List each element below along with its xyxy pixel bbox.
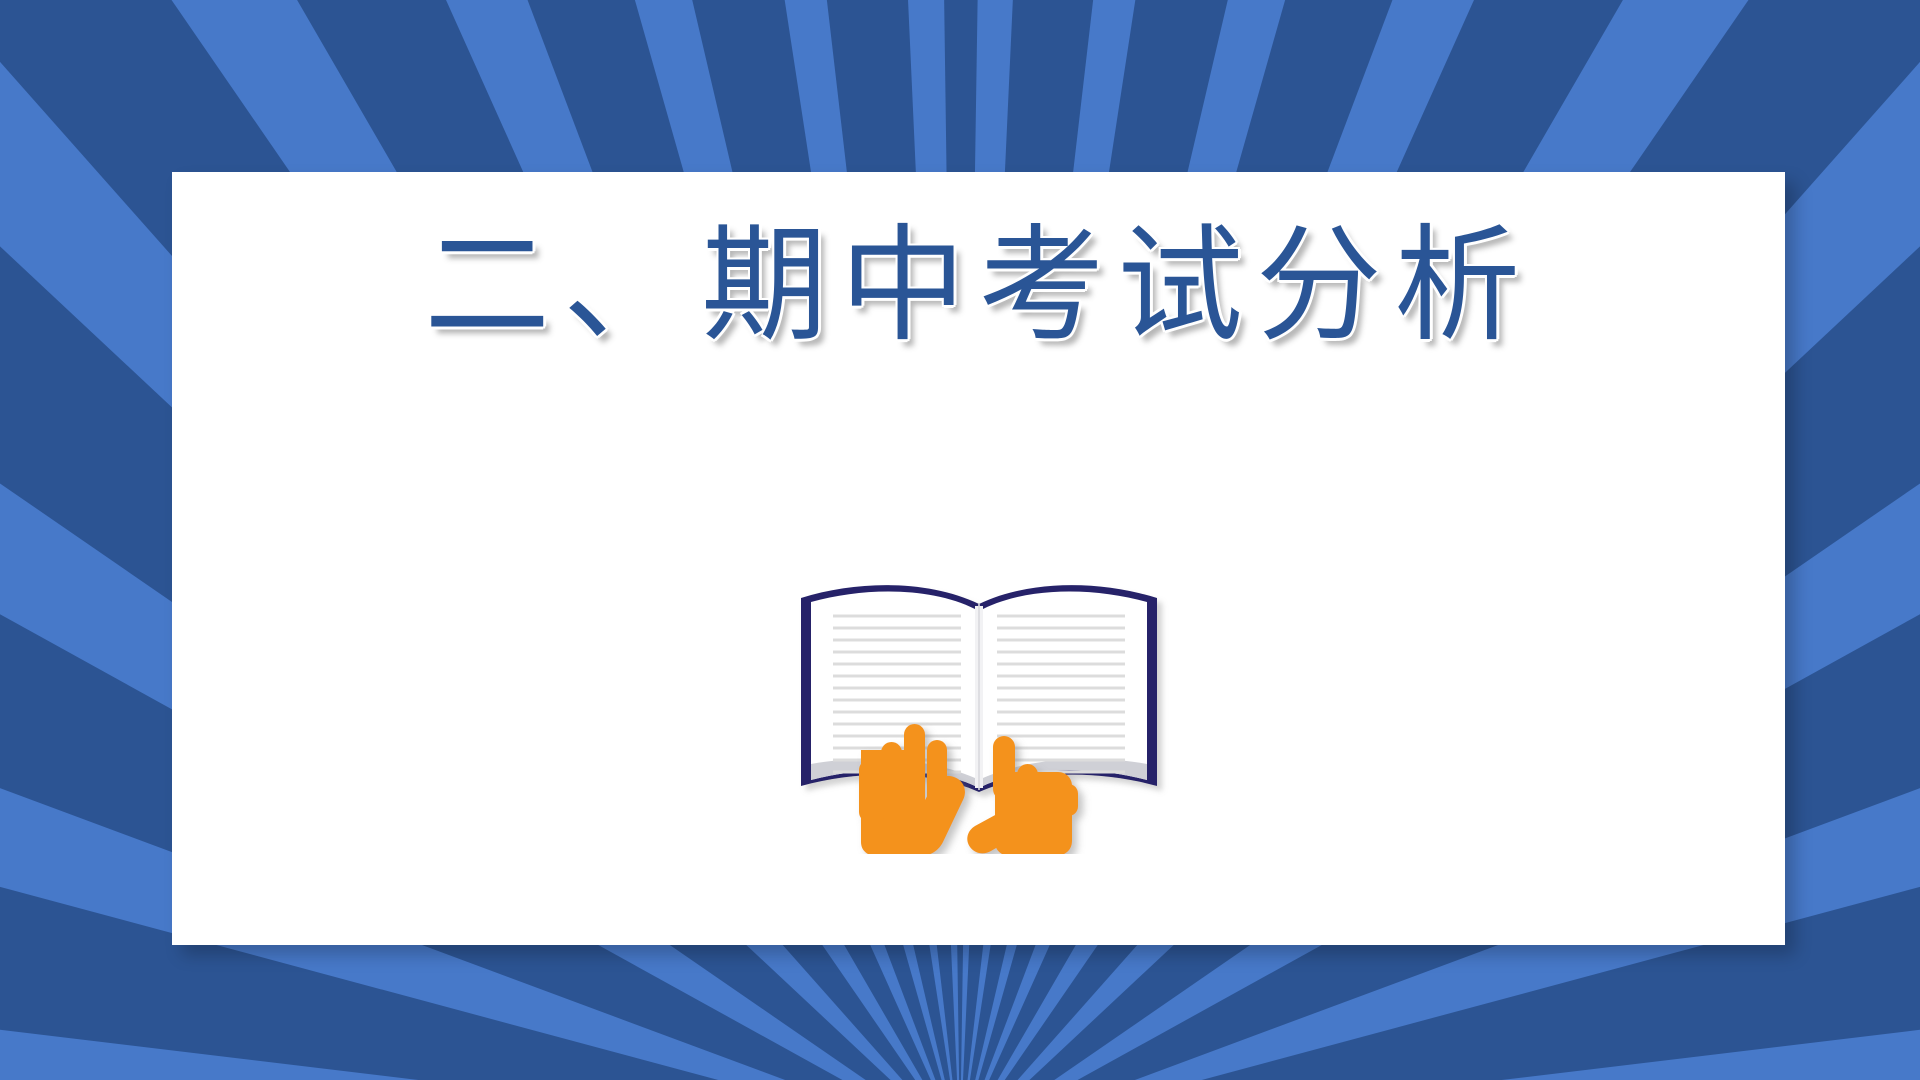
page-title: 二、期中考试分析 [172,214,1785,363]
content-card: 二、期中考试分析 [172,172,1785,945]
open-book-with-hands-icon [789,564,1169,854]
slide-root: 二、期中考试分析 [0,0,1920,1080]
book-graphic [801,585,1157,792]
slide-title-text: 二、期中考试分析 [424,214,1533,363]
